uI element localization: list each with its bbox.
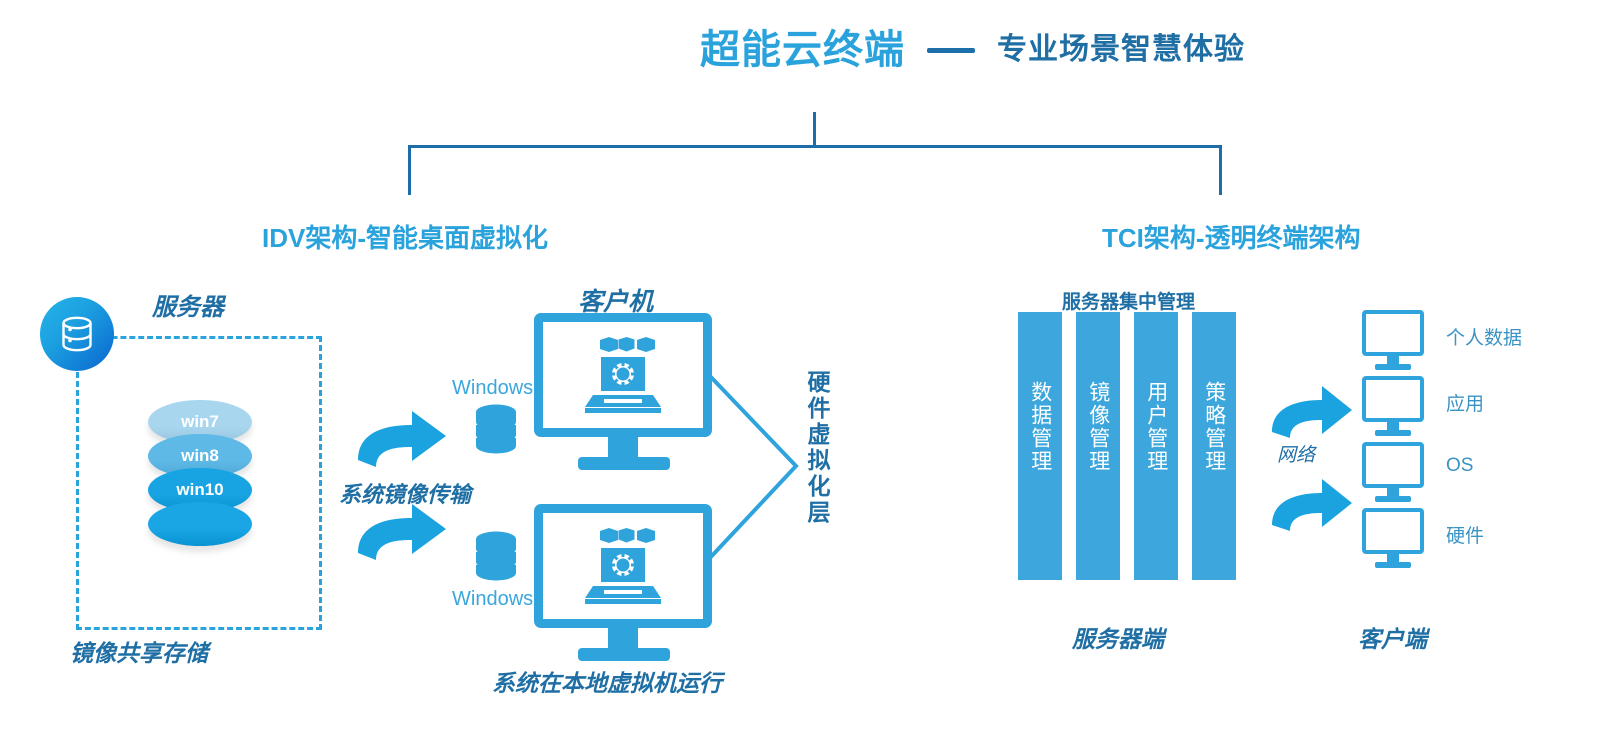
- hypervisor-label: 硬件虚拟化层: [800, 370, 834, 526]
- title-subtitle: 专业场景智慧体验: [997, 35, 1245, 65]
- connector-right-drop: [1219, 145, 1222, 195]
- monitor-neck-4: [1387, 554, 1399, 562]
- monitor-neck-1: [1387, 356, 1399, 364]
- monitor-neck-2: [1387, 422, 1399, 430]
- client-side-label: 客户端: [1358, 620, 1427, 654]
- server-label: 服务器: [152, 287, 224, 322]
- database-stack-icon-bottom: [468, 530, 524, 582]
- client-layer-label-4: 硬件: [1446, 521, 1484, 548]
- monitor-icon-4: [1362, 508, 1424, 554]
- monitor-neck-3: [1387, 488, 1399, 496]
- monitor-icon-2: [1362, 376, 1424, 422]
- tci-bar-label: 用户管理: [1144, 381, 1168, 473]
- monitor-base-4: [1375, 562, 1411, 568]
- client-monitor-top-neck: [608, 437, 638, 459]
- client-monitor-bottom-neck: [608, 628, 638, 650]
- tci-bar-2[interactable]: 镜像管理: [1076, 312, 1120, 580]
- tci-bar-1[interactable]: 数据管理: [1018, 312, 1062, 580]
- client-monitor-bottom-base: [578, 648, 670, 661]
- windows-label-bottom: Windows: [452, 588, 533, 611]
- client-monitor-top-base: [578, 457, 670, 470]
- laptop-gear-boxes-icon-bottom: [571, 528, 675, 606]
- client-layer-label-2: 应用: [1446, 389, 1484, 416]
- monitor-icon-3: [1362, 442, 1424, 488]
- tci-bar-label: 镜像管理: [1086, 381, 1110, 473]
- title-main: 超能云终端: [700, 30, 905, 70]
- windows-label-top: Windows: [452, 377, 533, 400]
- tci-bar-4[interactable]: 策略管理: [1192, 312, 1236, 580]
- os-disc-label: win10: [176, 480, 223, 500]
- connector-stem: [813, 112, 816, 147]
- branch-heading-idv: IDV架构-智能桌面虚拟化: [262, 218, 548, 255]
- os-disc-label: win8: [181, 446, 219, 466]
- diagram-canvas: 超能云终端 专业场景智慧体验 IDV架构-智能桌面虚拟化 TCI架构-透明终端架…: [0, 0, 1602, 747]
- monitor-icon-1: [1362, 310, 1424, 356]
- tci-bar-group: 数据管理镜像管理用户管理策略管理: [1018, 312, 1244, 580]
- client-layer-group: 个人数据应用OS硬件: [1362, 310, 1562, 580]
- monitor-base-3: [1375, 496, 1411, 502]
- laptop-gear-boxes-icon-top: [571, 337, 675, 415]
- database-stack-icon-top: [468, 403, 524, 455]
- server-side-label: 服务器端: [1072, 620, 1164, 654]
- monitor-base-1: [1375, 364, 1411, 370]
- server-node: [40, 297, 114, 371]
- connector-left-drop: [408, 145, 411, 195]
- tci-bar-3[interactable]: 用户管理: [1134, 312, 1178, 580]
- image-transfer-label: 系统镜像传输: [339, 477, 471, 509]
- os-disc-label: win7: [181, 412, 219, 432]
- os-image-stack: win7win8win10: [148, 400, 258, 548]
- tci-top-label: 服务器集中管理: [1062, 287, 1195, 314]
- branch-heading-tci: TCI架构-透明终端架构: [1102, 218, 1361, 255]
- monitor-base-2: [1375, 430, 1411, 436]
- hypervisor-bracket: [706, 372, 802, 564]
- idv-footer-note: 系统在本地虚拟机运行: [492, 664, 722, 698]
- tci-bar-label: 策略管理: [1202, 381, 1226, 473]
- client-layer-label-1: 个人数据: [1446, 323, 1522, 350]
- os-disc-base: [148, 502, 252, 546]
- network-label: 网络: [1277, 440, 1315, 467]
- database-icon: [58, 314, 96, 354]
- client-layer-label-3: OS: [1446, 455, 1473, 477]
- title-separator-dash: [927, 48, 975, 53]
- connector-crossbar: [408, 145, 1222, 148]
- tci-bar-label: 数据管理: [1028, 381, 1052, 473]
- page-title: 超能云终端 专业场景智慧体验: [700, 30, 1245, 70]
- shared-storage-label: 镜像共享存储: [70, 634, 208, 668]
